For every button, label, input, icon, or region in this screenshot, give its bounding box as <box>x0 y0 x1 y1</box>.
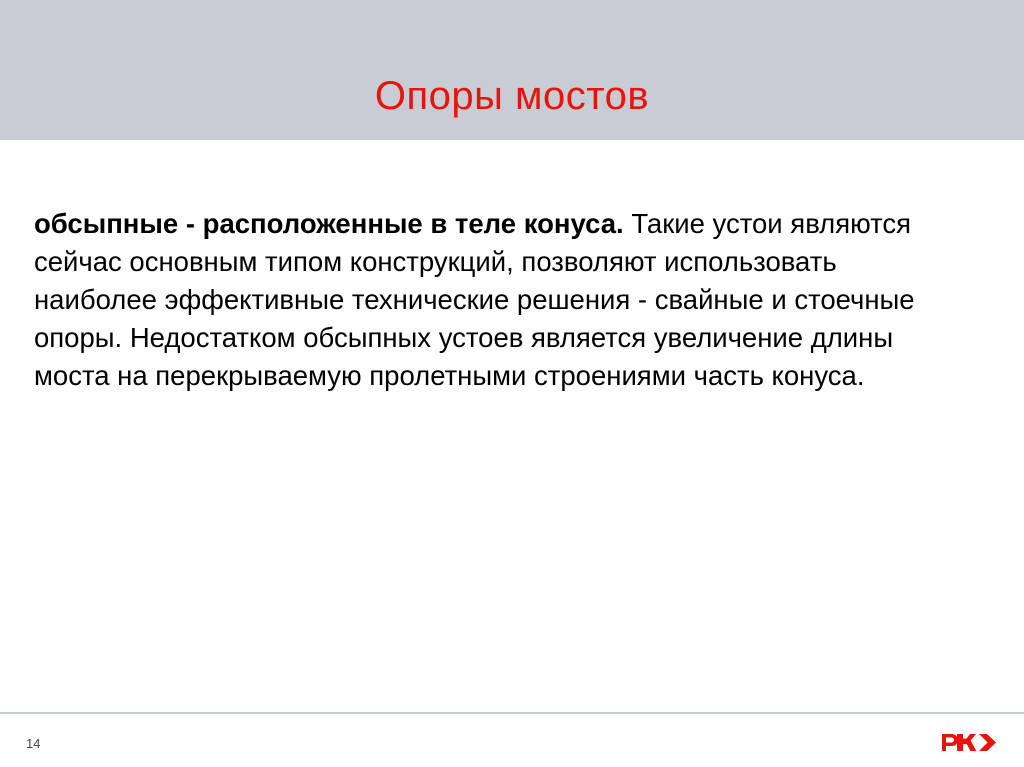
footer-divider <box>0 712 1024 714</box>
body-text: обсыпные - расположенные в теле конуса. … <box>34 205 934 395</box>
body-lead-rest: - расположенные в теле конуса. <box>178 208 624 239</box>
slide: Опоры мостов обсыпные - расположенные в … <box>0 0 1024 767</box>
page-number: 14 <box>26 736 40 751</box>
rzd-logo-icon <box>940 728 998 754</box>
page-title: Опоры мостов <box>0 27 1024 167</box>
body-lead-term: обсыпные <box>34 208 178 239</box>
